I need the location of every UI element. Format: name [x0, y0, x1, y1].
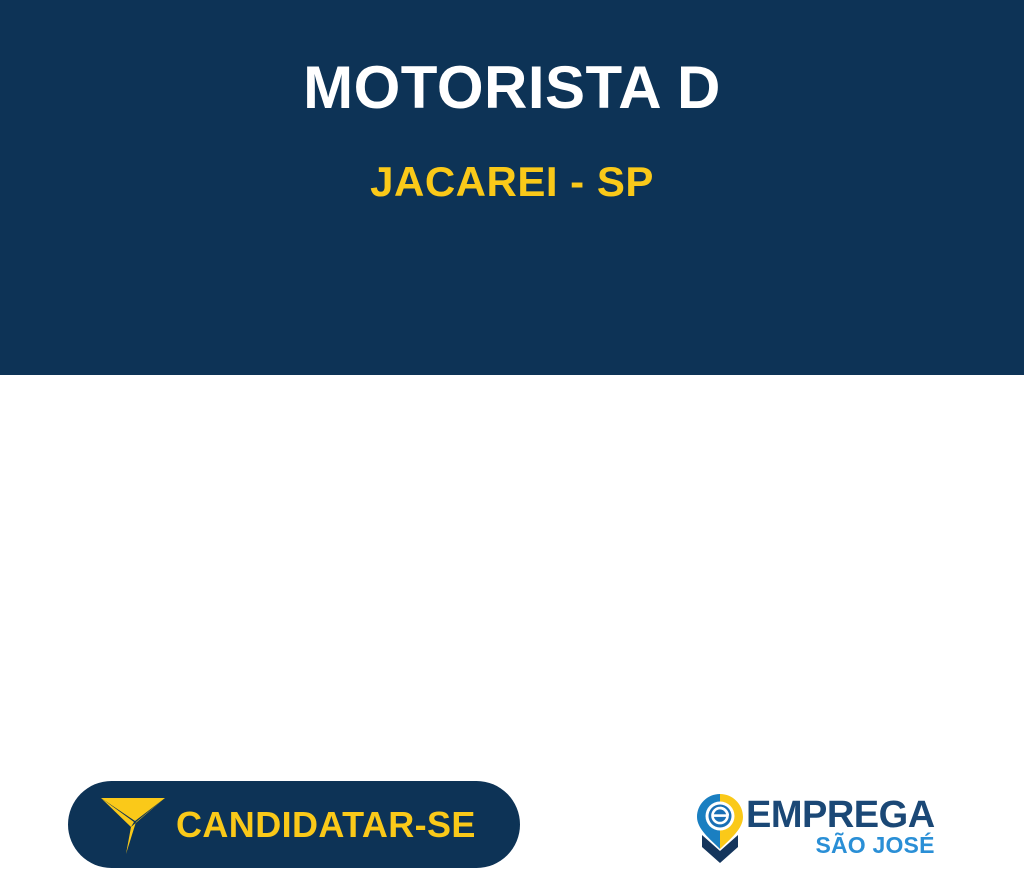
location-pin-e-icon	[696, 793, 744, 865]
page-title: MOTORISTA D	[0, 56, 1024, 119]
brand-logo: EMPREGA SÃO JOSÉ	[696, 793, 916, 869]
apply-button-label: CANDIDATAR-SE	[176, 807, 476, 843]
hero-banner: MOTORISTA D JACAREI - SP	[0, 0, 1024, 375]
brand-wordmark: EMPREGA SÃO JOSÉ	[746, 793, 935, 857]
apply-button[interactable]: CANDIDATAR-SE	[68, 781, 520, 868]
brand-city: SÃO JOSÉ	[746, 834, 935, 857]
job-vacancy-card: MOTORISTA D JACAREI - SP CANDIDATAR-SE	[0, 0, 1024, 538]
footer-bar: CANDIDATAR-SE EMPREGA SÃO JOSÉ	[0, 375, 1024, 538]
brand-name: EMPREGA	[746, 797, 935, 833]
job-location: JACAREI - SP	[0, 160, 1024, 204]
send-plane-icon	[100, 794, 166, 856]
